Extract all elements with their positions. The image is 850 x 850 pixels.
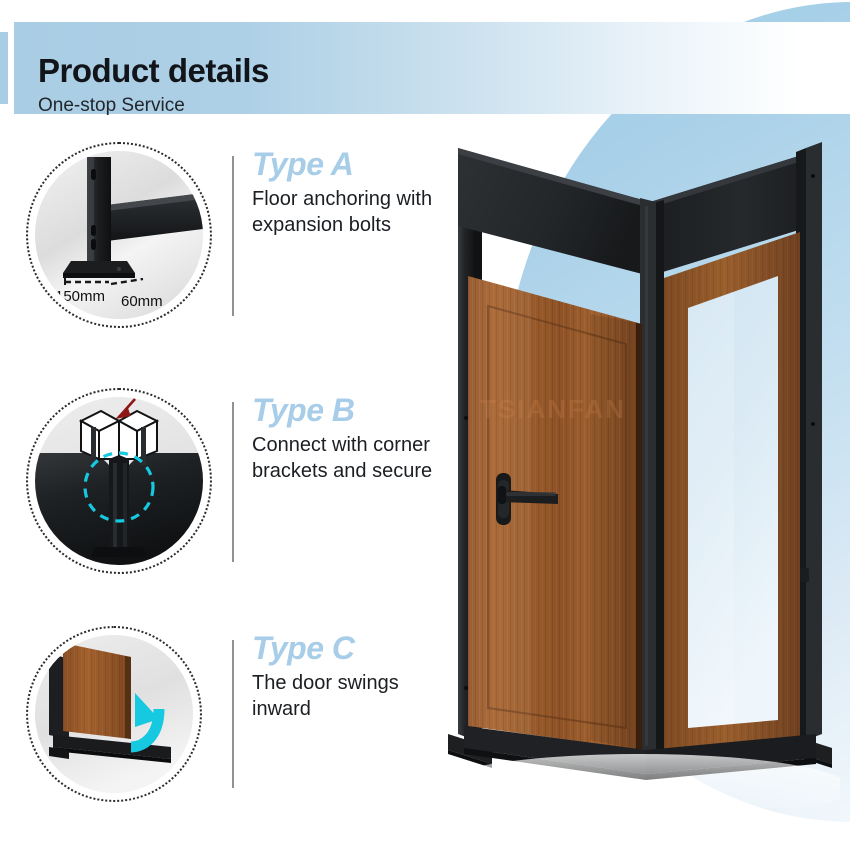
page-subtitle: One-stop Service <box>38 96 185 115</box>
product-image: TSIANFAN <box>440 128 840 808</box>
divider-b <box>232 402 234 562</box>
feature-row-type-a: 150mm 60mm Type A Floor anchoring with e… <box>0 142 460 334</box>
feature-text-type-b: Type B Connect with corner brackets and … <box>252 394 460 484</box>
base-plate <box>63 261 135 273</box>
feature-row-type-b: Type B Connect with corner brackets and … <box>0 388 460 580</box>
feature-label-type-a: Type A <box>252 148 460 182</box>
header-accent-bar <box>0 32 8 104</box>
door-opening-interior <box>688 276 778 728</box>
frame-top-rail-left <box>458 148 650 276</box>
feature-illustration-type-c <box>26 626 202 802</box>
watermark-text: TSIANFAN <box>480 394 626 424</box>
divider-c <box>232 640 234 788</box>
feature-row-type-c: Type C The door swings inward <box>0 626 460 806</box>
feature-illustration-type-b <box>26 388 212 574</box>
dimension-label-60mm: 60mm <box>121 293 163 310</box>
feature-description-type-c: The door swings inward <box>252 670 460 723</box>
feature-illustration-type-a: 150mm 60mm <box>26 142 212 328</box>
page-title: Product details <box>38 54 269 87</box>
feature-description-type-a: Floor anchoring with expansion bolts <box>252 186 460 239</box>
door-leaf <box>468 276 642 750</box>
divider-a <box>232 156 234 316</box>
page-header: Product details One-stop Service <box>0 22 850 114</box>
feature-label-type-c: Type C <box>252 632 460 666</box>
feature-text-type-a: Type A Floor anchoring with expansion bo… <box>252 148 460 238</box>
feature-text-type-c: Type C The door swings inward <box>252 632 460 722</box>
latch-block <box>800 568 809 582</box>
feature-label-type-b: Type B <box>252 394 460 428</box>
feature-description-type-b: Connect with corner brackets and secure <box>252 432 460 485</box>
frame-corner-column <box>640 198 664 754</box>
